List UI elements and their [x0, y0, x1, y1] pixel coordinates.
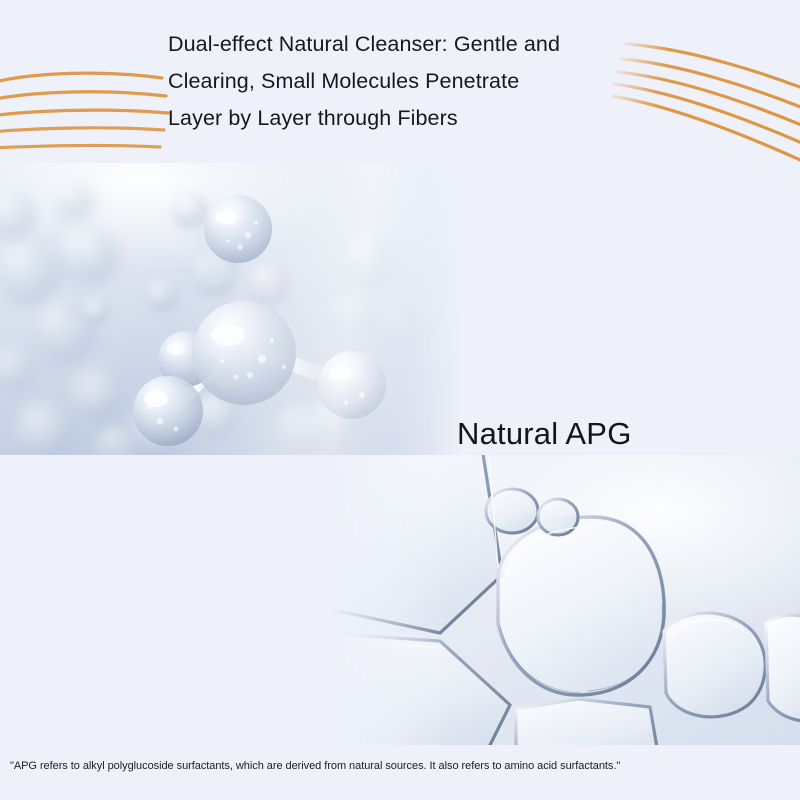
page-title: Dual-effect Natural Cleanser: Gentle and… — [168, 26, 638, 137]
foam-section: Plant amino acid skin care grade cleansi… — [0, 455, 800, 745]
orange-wave-lines-left — [0, 52, 184, 162]
apg-text-block: Natural APG Commonly used in baby care a… — [457, 415, 787, 455]
soap-bubble-macro-photo — [330, 455, 800, 745]
foam-illustration — [330, 455, 800, 745]
molecule-photo-sheen — [0, 163, 470, 455]
footnote-text: "APG refers to alkyl polyglucoside surfa… — [10, 759, 620, 774]
header-band: Dual-effect Natural Cleanser: Gentle and… — [0, 0, 800, 163]
molecule-model-photo — [0, 163, 470, 455]
apg-heading: Natural APG — [457, 415, 787, 453]
orange-wave-lines-right — [612, 32, 800, 162]
infographic-page: Dual-effect Natural Cleanser: Gentle and… — [0, 0, 800, 800]
footer-band: "APG refers to alkyl polyglucoside surfa… — [0, 745, 800, 800]
molecule-section: Natural APG Commonly used in baby care a… — [0, 163, 800, 455]
